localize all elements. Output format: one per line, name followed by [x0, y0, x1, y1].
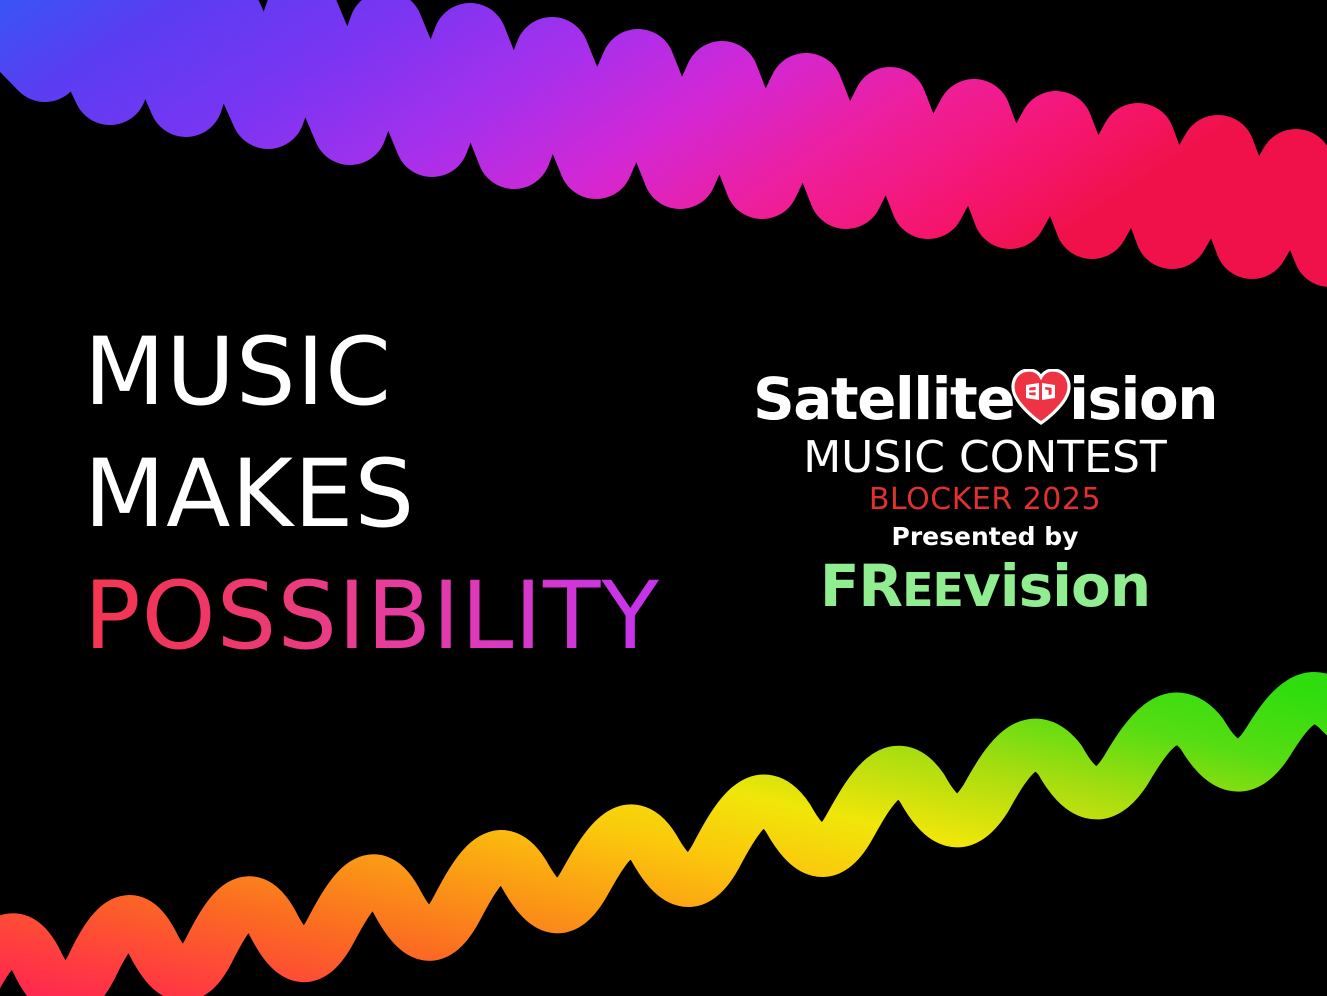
bottom-wave-decoration	[0, 660, 1327, 996]
headline-line-2: MAKES	[84, 434, 744, 556]
headline-line-1: MUSIC	[84, 312, 744, 434]
headline-line-3: POSSIBILITY	[84, 556, 744, 678]
heart-bl-logo-icon	[1011, 369, 1071, 425]
sponsor-part-1: FR	[820, 552, 902, 620]
sponsor-part-3: vision	[963, 552, 1150, 620]
presented-by-label: Presented by	[700, 523, 1270, 551]
headline-block: MUSIC MAKES POSSIBILITY	[84, 312, 744, 678]
contest-subtitle: MUSIC CONTEST	[700, 434, 1270, 482]
contest-edition: BLOCKER 2025	[700, 483, 1270, 517]
poster-canvas: MUSIC MAKES POSSIBILITY Satellite ision …	[0, 0, 1327, 996]
wordmark-suffix: ision	[1069, 370, 1217, 428]
satellitevision-wordmark: Satellite ision	[700, 368, 1270, 430]
sponsor-wordmark: FREEvision	[700, 555, 1270, 621]
contest-logo-block: Satellite ision MUSIC CONTEST BLOCKER 20…	[700, 368, 1270, 621]
wordmark-prefix: Satellite	[753, 370, 1014, 428]
sponsor-part-2: EE	[902, 563, 963, 617]
top-scribble-decoration	[0, 0, 1327, 290]
